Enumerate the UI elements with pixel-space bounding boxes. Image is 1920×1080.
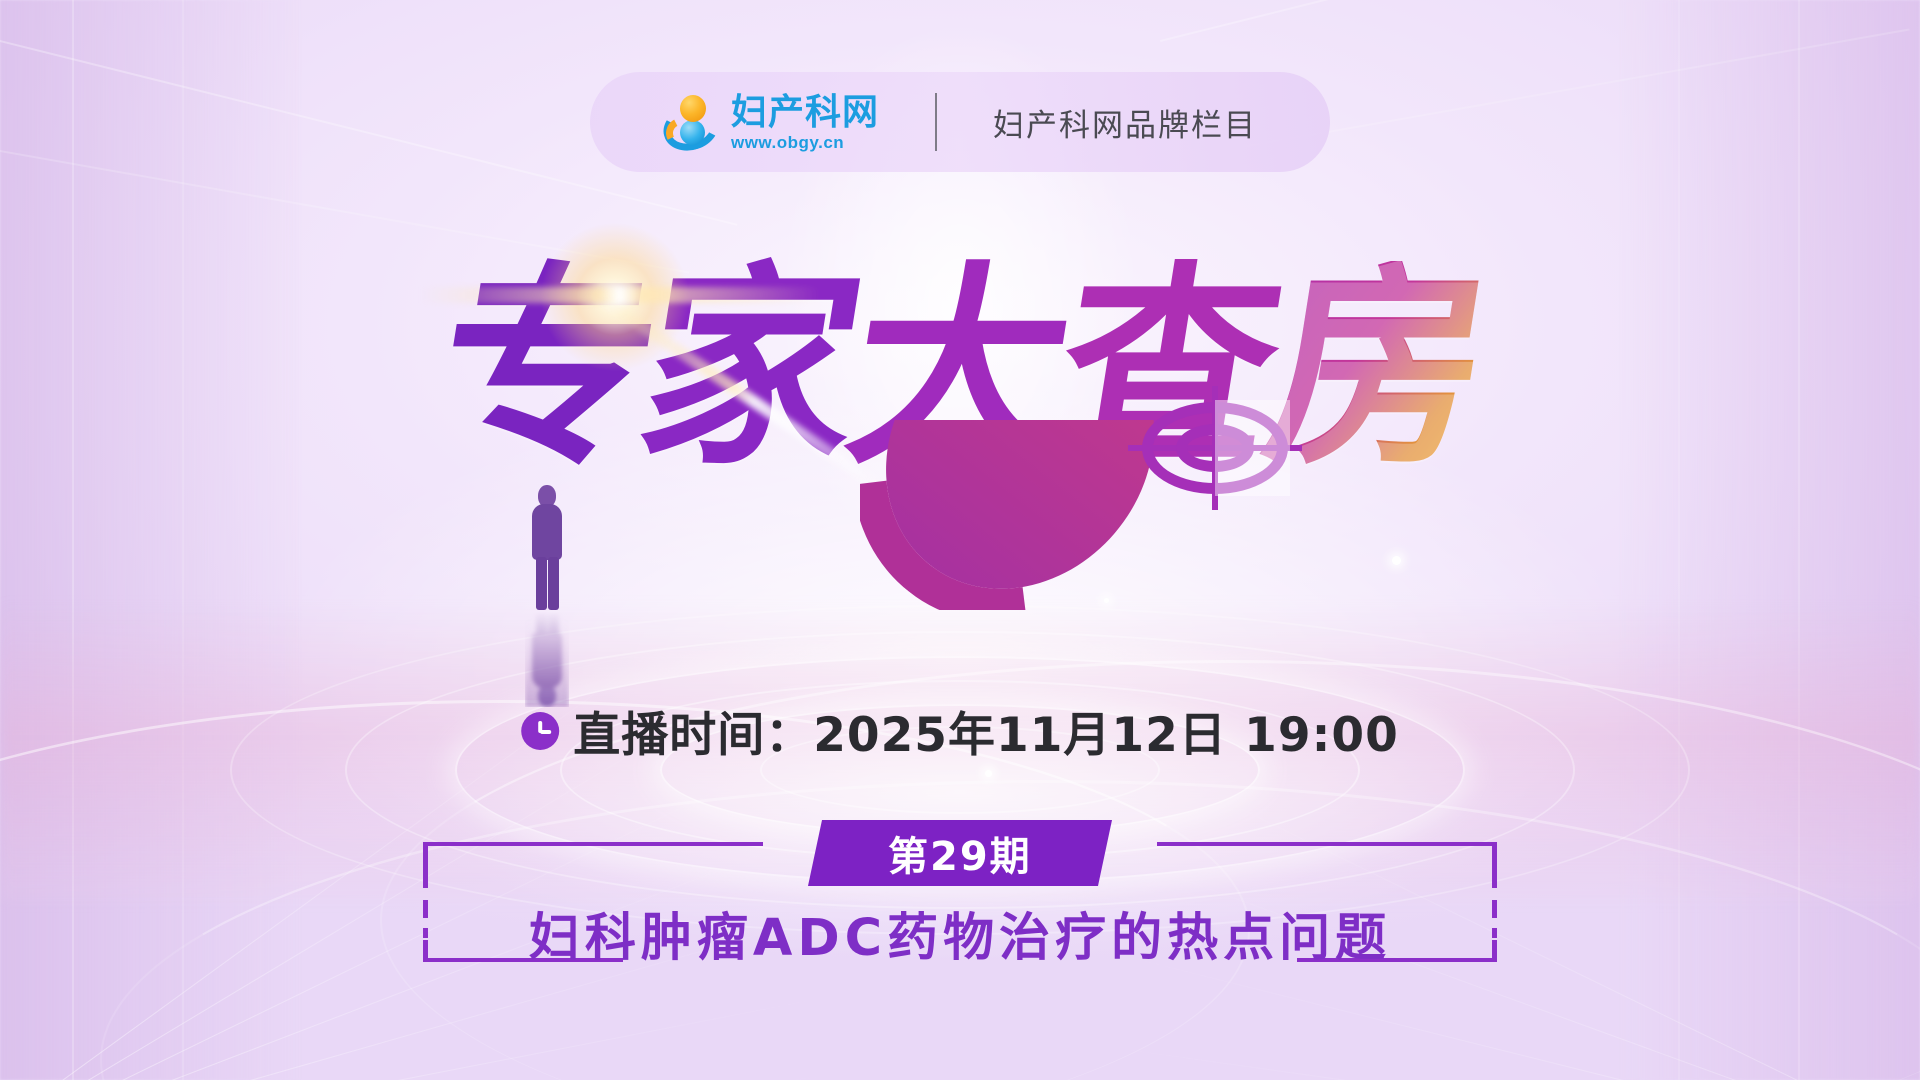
episode-frame: 第29期 妇科肿瘤ADC药物治疗的热点问题 [415, 820, 1505, 980]
light-dot [1392, 556, 1401, 565]
light-dot [985, 770, 992, 777]
frame-line-top-right [1157, 842, 1497, 846]
episode-badge: 第29期 [808, 820, 1112, 886]
episode-badge-label: 第29期 [888, 824, 1032, 882]
person-reflection [525, 612, 569, 707]
logo-name-cn: 妇产科网 [731, 94, 879, 130]
logo-text-block: 妇产科网 www.obgy.cn [731, 94, 879, 151]
column-label: 妇产科网品牌栏目 [937, 100, 1257, 145]
site-logo[interactable]: 妇产科网 www.obgy.cn [663, 94, 935, 151]
crosshair-target-icon [1140, 400, 1290, 496]
obgy-logo-icon [663, 94, 719, 150]
pill-divider [935, 93, 937, 151]
frame-side-right [1492, 842, 1497, 888]
clock-icon [521, 712, 559, 750]
live-time-text: 直播时间：2025年11月12日 19:00 [573, 696, 1399, 765]
frame-line-top-left [423, 842, 763, 846]
logo-url: www.obgy.cn [731, 134, 879, 151]
live-time-row: 直播时间：2025年11月12日 19:00 [521, 696, 1399, 765]
episode-subtitle: 妇科肿瘤ADC药物治疗的热点问题 [415, 896, 1505, 970]
frame-side-left [423, 842, 428, 888]
brand-pill-badge: 妇产科网 www.obgy.cn 妇产科网品牌栏目 [590, 72, 1330, 172]
